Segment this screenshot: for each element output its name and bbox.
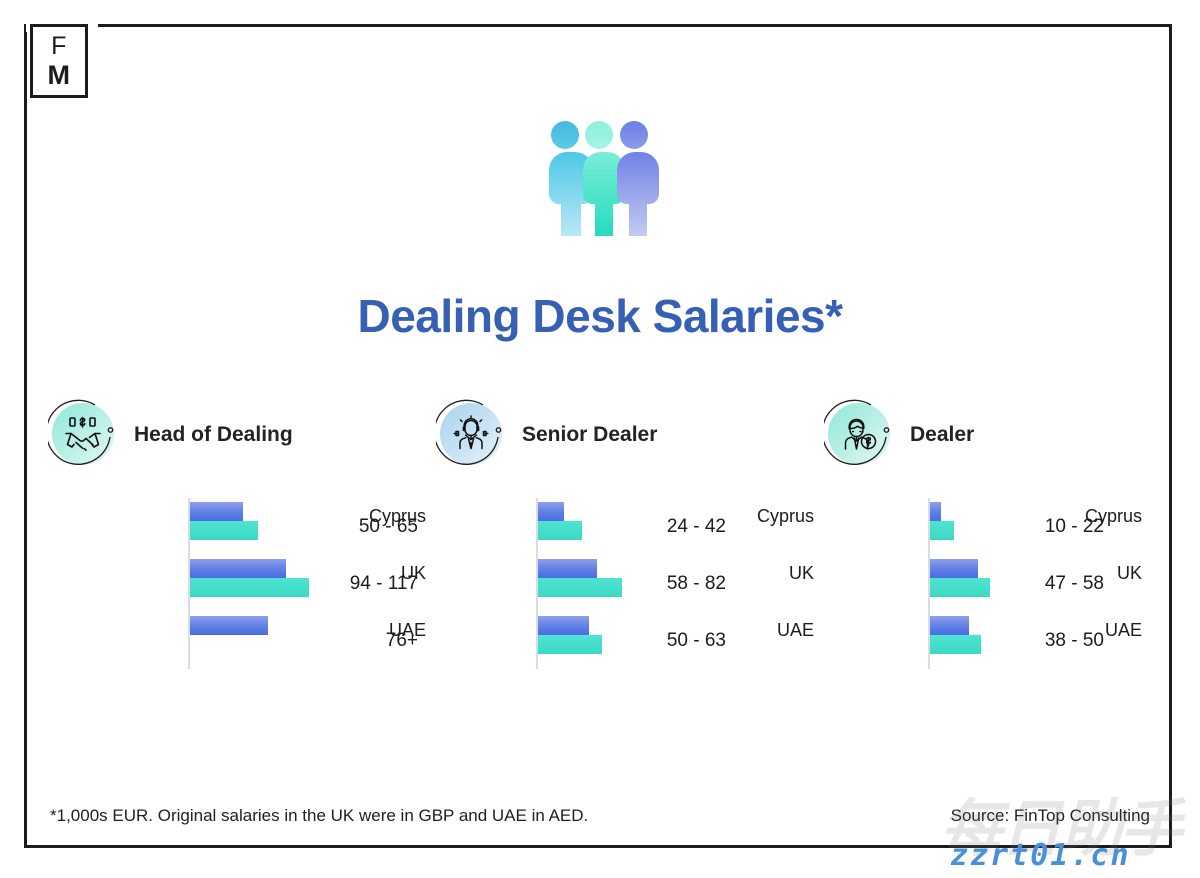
panel-dealer: Dealer Cyprus 10 - 22 UK 47 - 58 xyxy=(824,396,1152,669)
row-label: UK xyxy=(724,563,824,584)
bar-min xyxy=(930,559,978,578)
row-value: 47 - 58 xyxy=(984,573,1104,595)
chart-row: Cyprus 50 - 65 xyxy=(48,498,436,555)
bar-min xyxy=(930,502,941,521)
row-value: 58 - 82 xyxy=(606,573,726,595)
bar-max xyxy=(190,521,258,540)
panel-header: Senior Dealer xyxy=(436,396,824,474)
trader-headset-icon xyxy=(440,403,502,465)
dealer-coin-icon xyxy=(828,403,890,465)
row-bars xyxy=(930,616,981,654)
panel-title: Head of Dealing xyxy=(134,423,293,447)
bar-max xyxy=(538,635,602,654)
row-bars xyxy=(538,502,582,540)
chart-row: UK 47 - 58 xyxy=(824,555,1152,612)
role-badge xyxy=(824,399,896,471)
row-bars xyxy=(190,559,309,597)
row-value: 50 - 65 xyxy=(298,516,418,538)
row-value: 50 - 63 xyxy=(606,630,726,652)
chart-row: Cyprus 10 - 22 xyxy=(824,498,1152,555)
panel-title: Dealer xyxy=(910,423,974,447)
bar-chart: Cyprus 10 - 22 UK 47 - 58 UAE xyxy=(824,498,1152,669)
row-value: 76+ xyxy=(298,630,418,652)
row-value: 10 - 22 xyxy=(984,516,1104,538)
row-bars xyxy=(930,559,990,597)
chart-row: UK 58 - 82 xyxy=(436,555,824,612)
row-value: 94 - 117 xyxy=(298,573,418,595)
panel-title: Senior Dealer xyxy=(522,423,657,447)
row-bars xyxy=(538,616,602,654)
chart-row: UK 94 - 117 xyxy=(48,555,436,612)
bar-max xyxy=(190,578,309,597)
chart-row: UAE 38 - 50 xyxy=(824,612,1152,669)
handshake-dollar-icon xyxy=(52,403,114,465)
fm-logo: F M xyxy=(30,24,88,98)
salary-panels: Head of Dealing Cyprus 50 - 65 UK 94 - 1… xyxy=(48,396,1152,669)
panel-header: Dealer xyxy=(824,396,1152,474)
bar-min xyxy=(930,616,969,635)
bar-chart: Cyprus 50 - 65 UK 94 - 117 UAE xyxy=(48,498,436,669)
page-title: Dealing Desk Salaries* xyxy=(0,289,1200,343)
chart-row: Cyprus 24 - 42 xyxy=(436,498,824,555)
role-badge xyxy=(436,399,508,471)
row-value: 38 - 50 xyxy=(984,630,1104,652)
row-label: UAE xyxy=(724,620,824,641)
panel-senior-dealer: Senior Dealer Cyprus 24 - 42 UK 58 - 82 xyxy=(436,396,824,669)
row-label: Cyprus xyxy=(724,506,824,527)
bar-max xyxy=(930,635,981,654)
panel-header: Head of Dealing xyxy=(48,396,436,474)
logo-letter-f: F xyxy=(51,34,67,59)
bar-chart: Cyprus 24 - 42 UK 58 - 82 UAE xyxy=(436,498,824,669)
three-people-icon xyxy=(0,118,1200,246)
bar-min xyxy=(538,616,589,635)
source-label: Source: FinTop Consulting xyxy=(951,806,1150,826)
bar-min xyxy=(190,559,286,578)
bar-min xyxy=(190,502,243,521)
bar-max xyxy=(930,578,990,597)
logo-letter-m: M xyxy=(48,62,71,89)
row-bars xyxy=(930,502,954,540)
bar-max xyxy=(538,521,582,540)
row-bars xyxy=(190,616,268,635)
row-bars xyxy=(190,502,258,540)
panel-head-of-dealing: Head of Dealing Cyprus 50 - 65 UK 94 - 1… xyxy=(48,396,436,669)
bar-min xyxy=(190,616,268,635)
chart-row: UAE 76+ xyxy=(48,612,436,669)
row-value: 24 - 42 xyxy=(606,516,726,538)
role-badge xyxy=(48,399,120,471)
bar-max xyxy=(930,521,954,540)
footnote: *1,000s EUR. Original salaries in the UK… xyxy=(50,806,588,826)
chart-row: UAE 50 - 63 xyxy=(436,612,824,669)
bar-min xyxy=(538,559,597,578)
bar-min xyxy=(538,502,564,521)
